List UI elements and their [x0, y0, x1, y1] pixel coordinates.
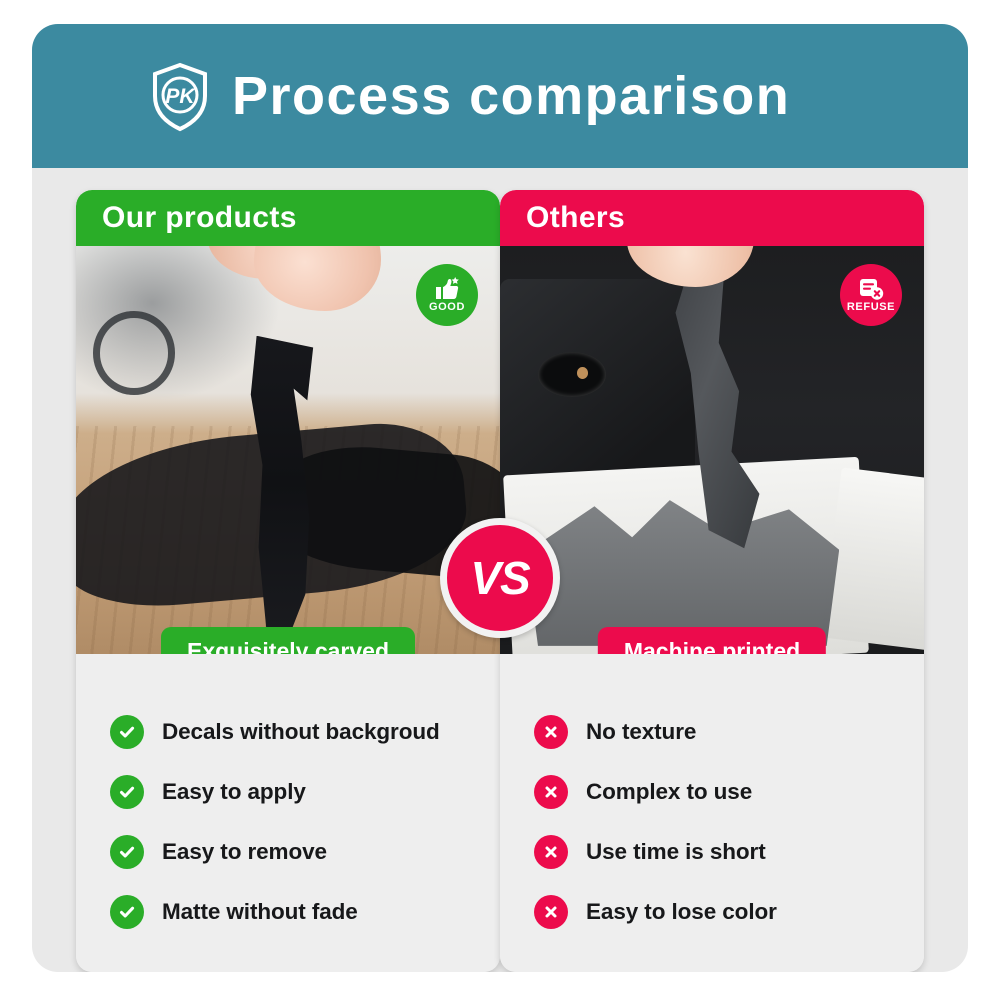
cross-icon — [534, 835, 568, 869]
badge-refuse-text: REFUSE — [847, 302, 895, 313]
photo-our-products: GOOD Exquisitely carved — [76, 246, 500, 654]
photo-others: REFUSE Machine printed — [500, 246, 924, 654]
feature-label: Decals without backgroud — [162, 719, 440, 745]
feature-label: Easy to lose color — [586, 899, 777, 925]
thumbs-up-star-icon — [434, 277, 460, 301]
page-header: PK Process comparison — [32, 24, 968, 168]
caption-others: Machine printed — [598, 627, 826, 654]
cross-icon — [534, 895, 568, 929]
card-heading-others: Others — [500, 190, 924, 246]
photo-finger — [254, 246, 381, 311]
infographic-canvas: PK Process comparison Our products — [0, 0, 1000, 1000]
feature-label: Use time is short — [586, 839, 766, 865]
photo-scissors — [93, 311, 175, 394]
cross-icon — [534, 775, 568, 809]
card-others: Others — [500, 190, 924, 972]
check-icon — [110, 835, 144, 869]
check-icon — [110, 895, 144, 929]
vs-label: VS — [470, 555, 529, 601]
feature-label: Complex to use — [586, 779, 752, 805]
card-heading-our-products: Our products — [76, 190, 500, 246]
document-x-icon — [858, 277, 884, 301]
card-our-products: Our products — [76, 190, 500, 972]
feature-label: Matte without fade — [162, 899, 358, 925]
feature-item: Complex to use — [534, 762, 924, 822]
feature-item: Matte without fade — [110, 882, 500, 942]
feature-item: Decals without backgroud — [110, 702, 500, 762]
check-icon — [110, 775, 144, 809]
feature-item: Easy to apply — [110, 762, 500, 822]
feature-item: Use time is short — [534, 822, 924, 882]
comparison-sheet: PK Process comparison Our products — [32, 24, 968, 972]
caption-our-products: Exquisitely carved — [161, 627, 415, 654]
photo-camera-lens — [538, 352, 606, 397]
check-icon — [110, 715, 144, 749]
feature-item: Easy to lose color — [534, 882, 924, 942]
feature-list-our-products: Decals without backgroud Easy to apply — [76, 654, 500, 968]
badge-refuse: REFUSE — [840, 264, 902, 326]
cross-icon — [534, 715, 568, 749]
shield-icon: PK — [150, 62, 210, 132]
badge-good-text: GOOD — [429, 302, 465, 313]
page-title: Process comparison — [232, 69, 790, 123]
feature-label: No texture — [586, 719, 696, 745]
badge-good: GOOD — [416, 264, 478, 326]
feature-item: No texture — [534, 702, 924, 762]
vs-badge: VS — [440, 518, 560, 638]
feature-list-others: No texture Complex to use — [500, 654, 924, 968]
logo-text: PK — [165, 85, 196, 108]
feature-label: Easy to apply — [162, 779, 306, 805]
feature-item: Easy to remove — [110, 822, 500, 882]
feature-label: Easy to remove — [162, 839, 327, 865]
